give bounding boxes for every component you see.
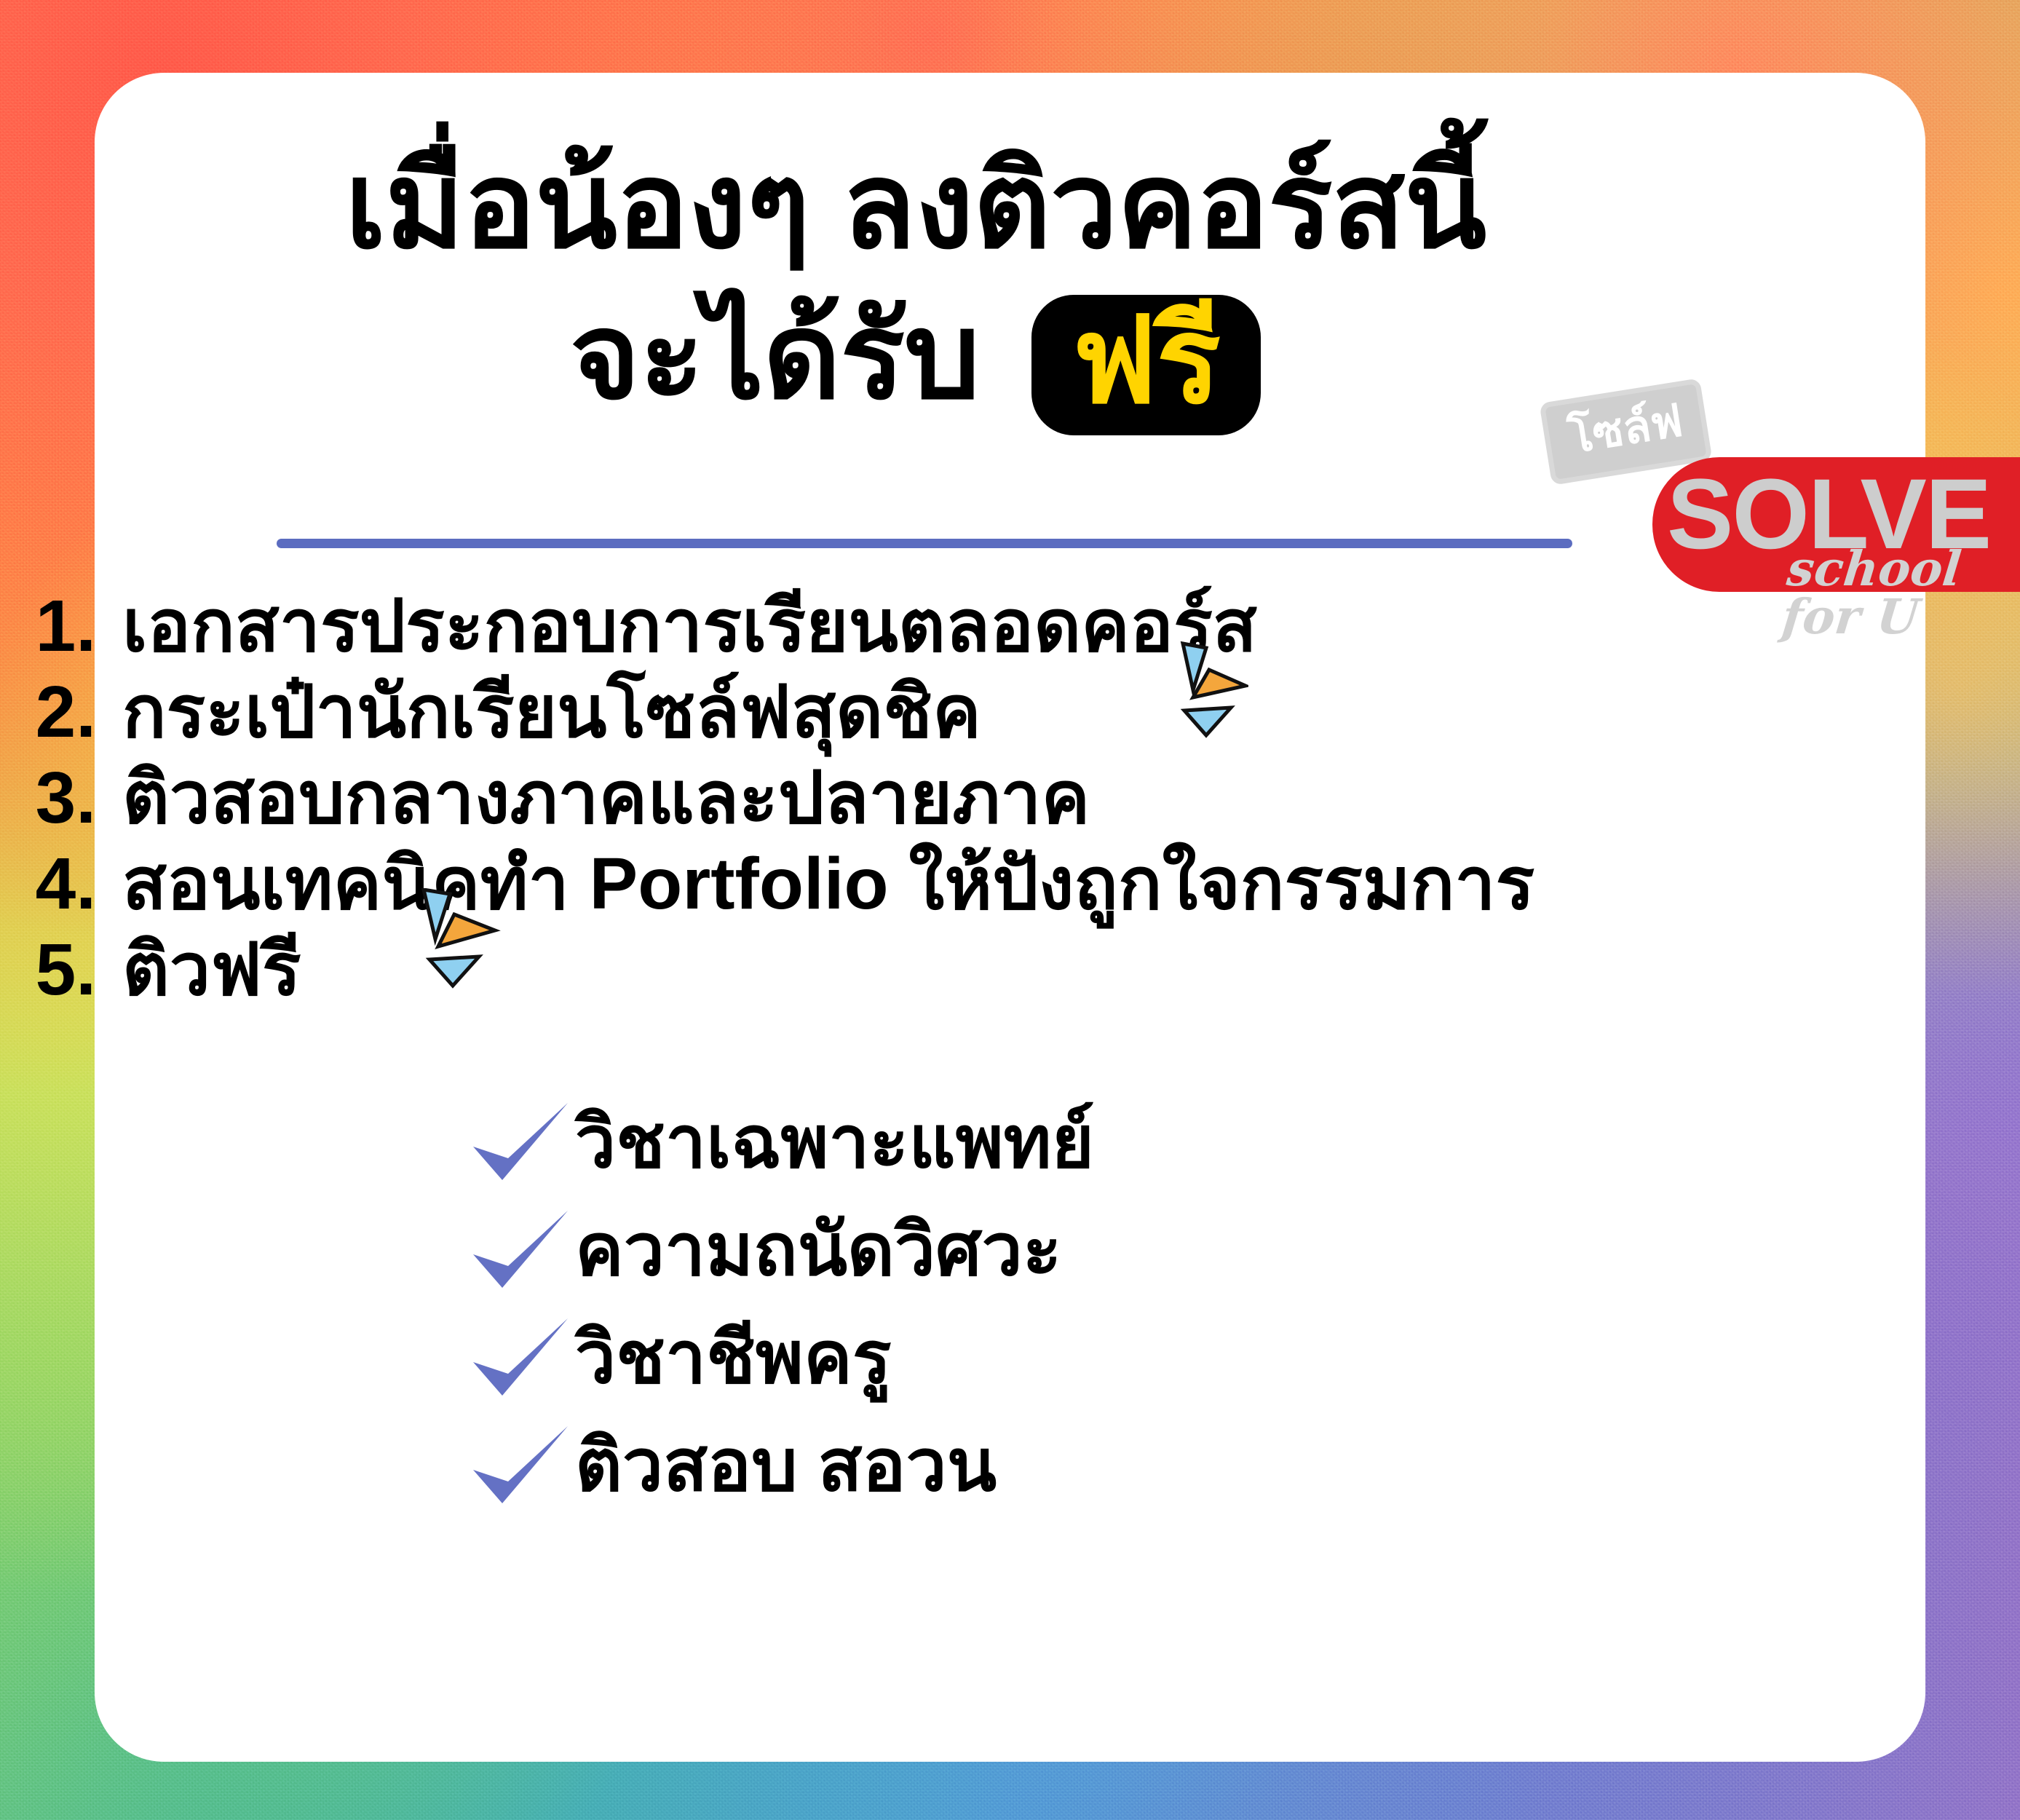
list-item: 1. เอกสารประกอบการเรียนตลอดคอร์ส	[0, 590, 1831, 676]
free-badge: ฟรี	[1031, 295, 1261, 435]
list-item: วิชาเฉพาะแพทย์	[0, 1088, 1831, 1196]
check-icon	[466, 1099, 575, 1186]
title-line-1: เมื่อน้องๆ ลงติวคอร์สนี้	[0, 138, 1831, 273]
solve-logo: โซล์ฟ SOLVE school for U	[1545, 379, 1996, 597]
list-item: 2. กระเป๋านักเรียนโซล์ฟสุดชิค	[0, 676, 1831, 761]
title-line-2-prefix: จะได้รับ	[570, 289, 980, 423]
list-item-label: เอกสารประกอบการเรียนตลอดคอร์ส	[122, 590, 1257, 662]
list-item-label: สอนเทคนิคทำ Portfolio ให้ปังถูกใจกรรมการ	[122, 847, 1534, 920]
list-item-label: กระเป๋านักเรียนโซล์ฟสุดชิค	[122, 676, 981, 748]
list-item-number: 1.	[0, 590, 122, 662]
list-item-number: 3.	[0, 761, 122, 834]
list-item-label: วิชาชีพครู	[575, 1321, 892, 1394]
list-item: 4. สอนเทคนิคทำ Portfolio ให้ปังถูกใจกรรม…	[0, 847, 1831, 933]
list-item-number: 2.	[0, 676, 122, 748]
list-item: 3. ติวสอบกลางภาคและปลายภาค	[0, 761, 1831, 847]
check-icon	[466, 1206, 575, 1294]
list-item: ติวสอบ สอวน	[0, 1412, 1831, 1519]
check-icon	[466, 1422, 575, 1509]
divider	[277, 539, 1572, 548]
list-item: ความถนัดวิศวะ	[0, 1196, 1831, 1304]
list-item: วิชาชีพครู	[0, 1304, 1831, 1412]
list-item-label: ความถนัดวิศวะ	[575, 1214, 1061, 1286]
benefits-list: 1. เอกสารประกอบการเรียนตลอดคอร์ส 2. กระเ…	[0, 590, 1831, 1019]
poster: เมื่อน้องๆ ลงติวคอร์สนี้ จะได้รับ ฟรี โซ…	[0, 0, 2020, 1820]
list-item: 5. ติวฟรี	[0, 933, 1831, 1019]
list-item-number: 4.	[0, 847, 122, 920]
list-item-number: 5.	[0, 933, 122, 1006]
list-item-label: วิชาเฉพาะแพทย์	[575, 1106, 1094, 1179]
list-item-label: ติวสอบ สอวน	[575, 1429, 997, 1502]
list-item-label: ติวฟรี	[122, 933, 301, 1006]
list-item-label: ติวสอบกลางภาคและปลายภาค	[122, 761, 1090, 834]
check-icon	[466, 1314, 575, 1401]
free-subjects-list: วิชาเฉพาะแพทย์ ความถนัดวิศวะ วิชาชีพครู …	[0, 1088, 1831, 1519]
